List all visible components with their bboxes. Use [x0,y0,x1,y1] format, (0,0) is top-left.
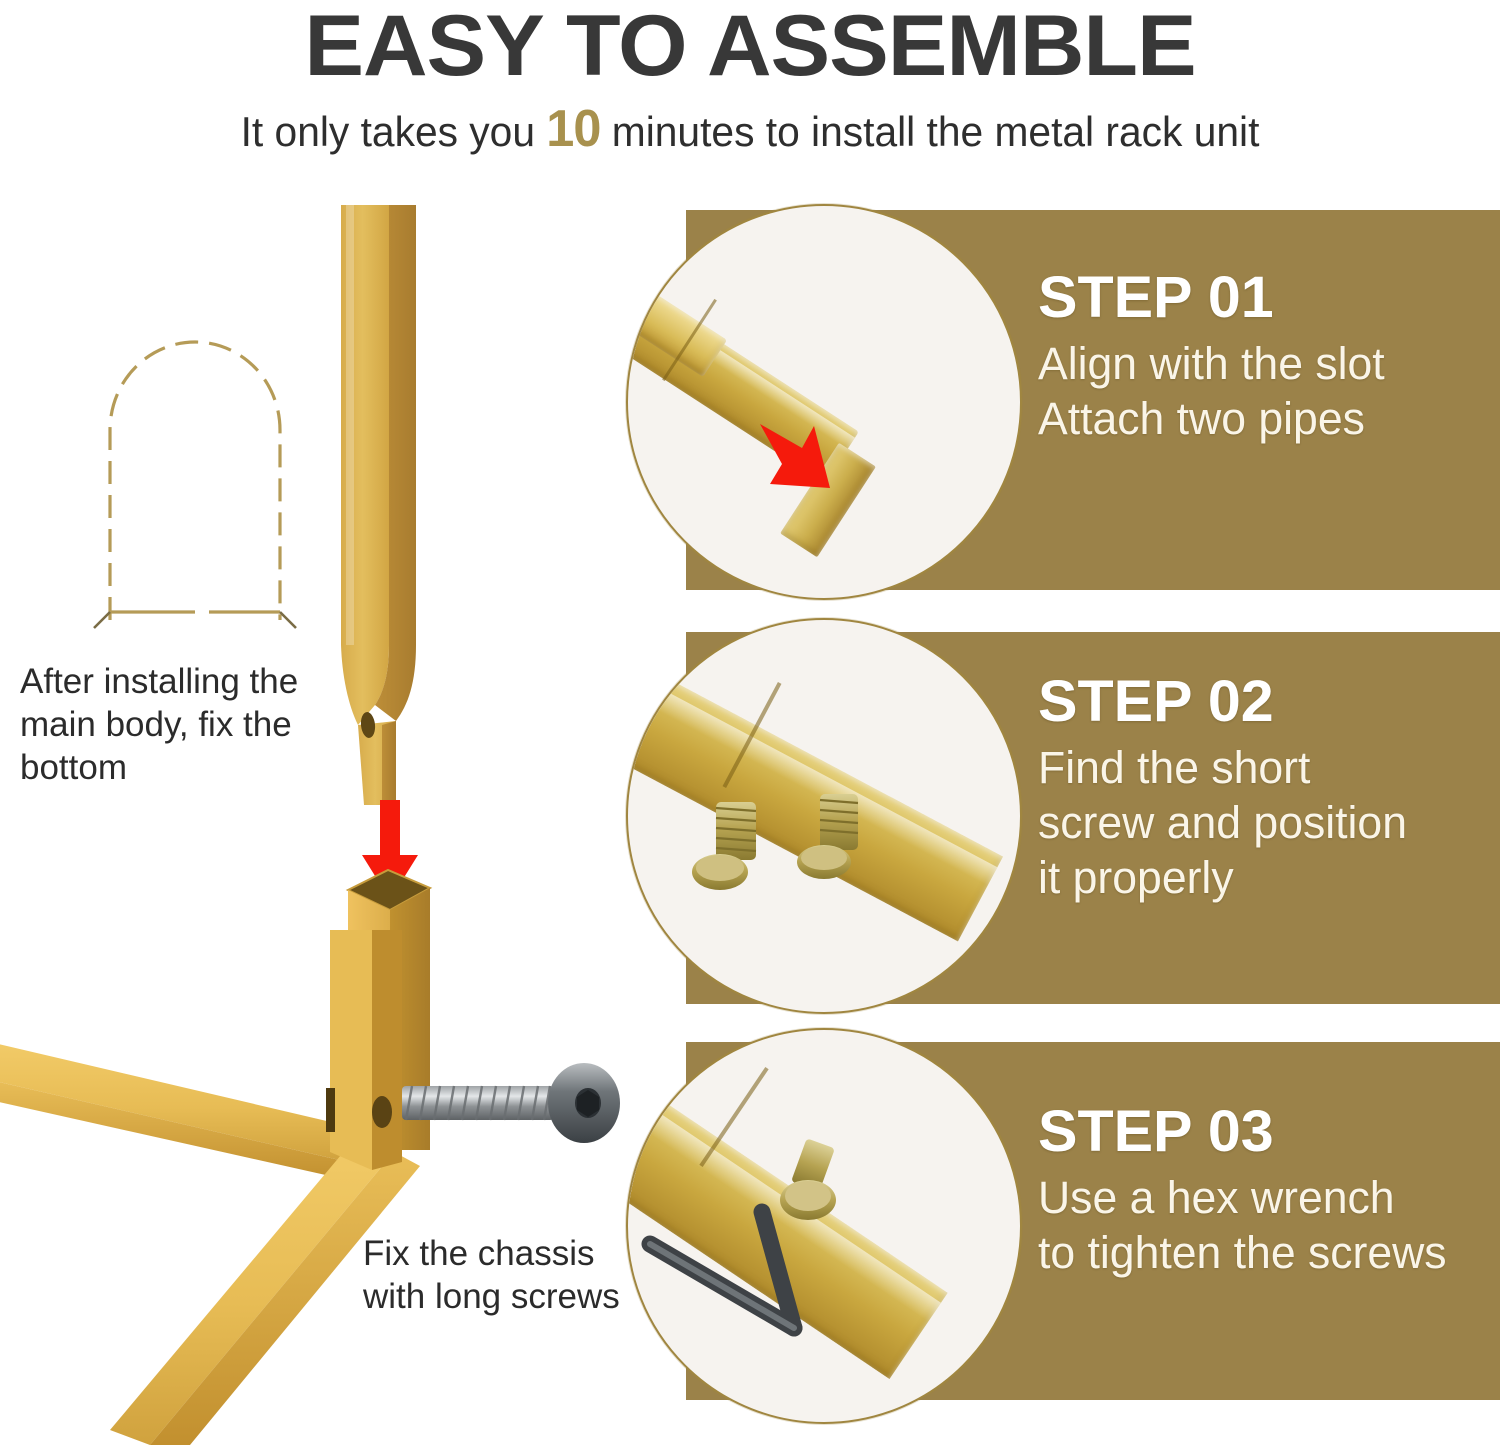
chassis-caption-line-1: Fix the chassis [363,1232,643,1275]
step-panel-2: STEP 02 Find the short screw and positio… [686,632,1500,1004]
step-1-photo [626,204,1022,600]
step-1-title: STEP 01 [1038,266,1495,330]
step-1-body-line-1: Align with the slot [1038,336,1482,391]
step-2-body-line-2: screw and position [1038,795,1482,850]
step-1-body-line-2: Attach two pipes [1038,391,1482,446]
subtitle-before: It only takes you [241,108,535,155]
gold-cross-base-icon [0,930,650,1445]
page-title: EASY TO ASSEMBLE [0,0,1500,94]
step-panel-1: STEP 01 Align with the slot Attach two p… [686,210,1500,590]
arch-caption: After installing the main body, fix the … [20,660,320,789]
gold-vertical-pipe-icon [320,205,450,805]
step-2-body: Find the short screw and position it pro… [1038,740,1482,905]
step-3-screw-icon [764,1138,884,1258]
step-3-body-line-1: Use a hex wrench [1038,1170,1482,1225]
step-3-photo [626,1028,1022,1424]
subtitle-minutes-number: 10 [546,100,600,158]
step-panel-3: STEP 03 Use a hex wrench to tighten the … [686,1042,1500,1400]
step-2-body-line-1: Find the short [1038,740,1482,795]
step-1-red-arrow-icon [756,418,866,510]
chassis-caption: Fix the chassis with long screws [363,1232,643,1318]
step-2-title: STEP 02 [1038,670,1495,734]
arch-caption-line-3: bottom [20,746,320,789]
step-2-photo [626,618,1022,1014]
dashed-arch-outline-icon [80,320,310,630]
step-2-body-line-3: it properly [1038,850,1482,905]
long-hex-screw-icon [398,1060,648,1170]
step-2-screws-icon [688,796,918,916]
step-3-body: Use a hex wrench to tighten the screws [1038,1170,1482,1280]
infographic-root: EASY TO ASSEMBLE It only takes you 10 mi… [0,0,1500,1445]
chassis-caption-line-2: with long screws [363,1275,643,1318]
arch-caption-line-1: After installing the [20,660,320,703]
arch-caption-line-2: main body, fix the [20,703,320,746]
step-3-body-line-2: to tighten the screws [1038,1225,1482,1280]
step-1-body: Align with the slot Attach two pipes [1038,336,1482,446]
step-3-title: STEP 03 [1038,1100,1495,1164]
subtitle-after: minutes to install the metal rack unit [612,108,1260,155]
page-subtitle: It only takes you 10 minutes to install … [23,104,1478,157]
